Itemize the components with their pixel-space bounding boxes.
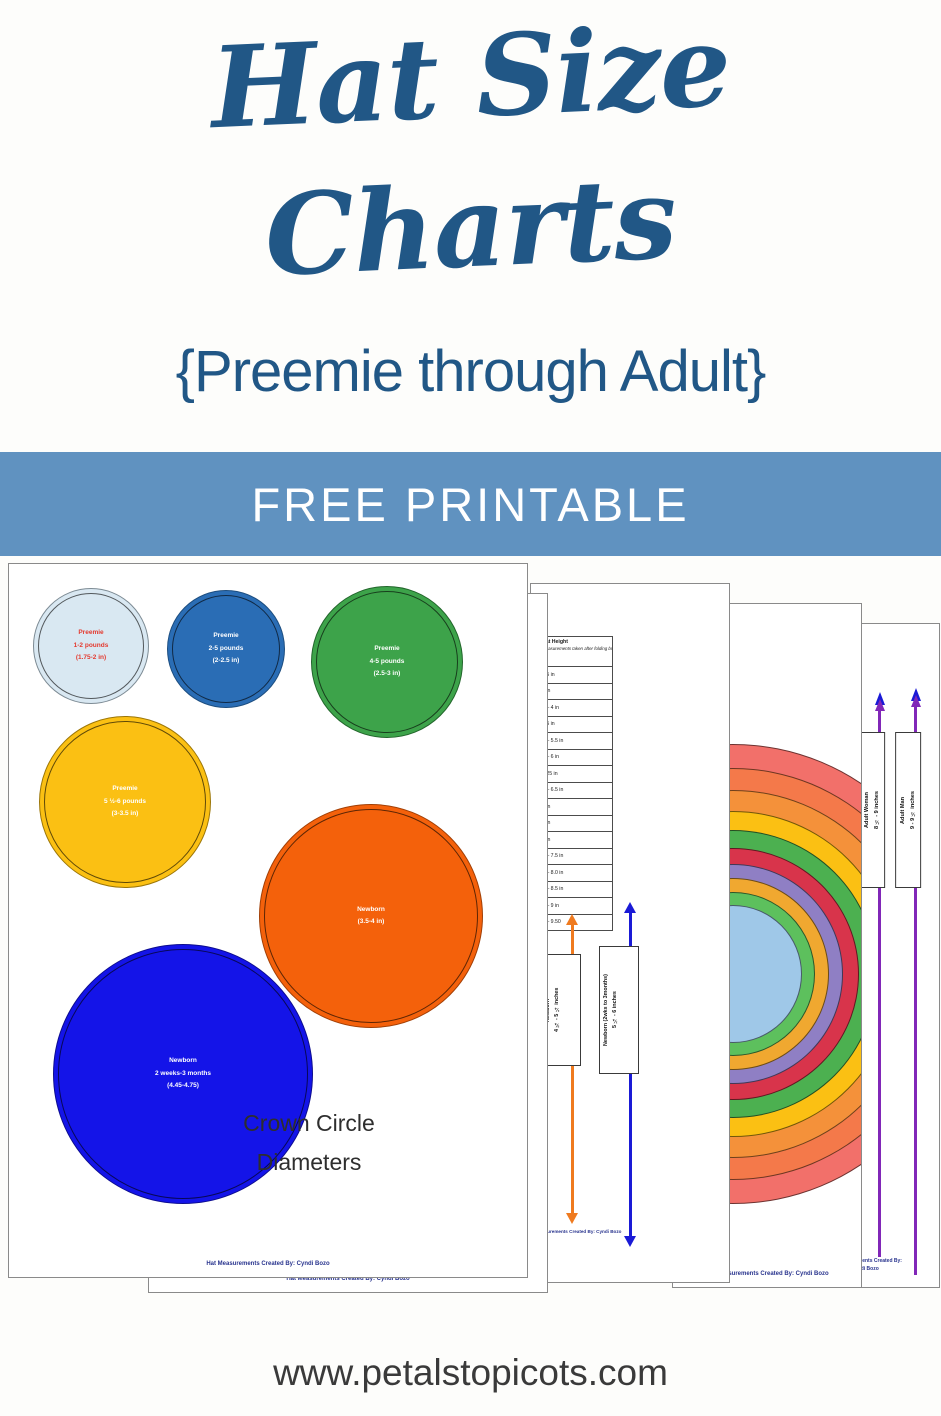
table-row: 6 – 8.0 in (540, 865, 612, 882)
circle-sub: 1-2 pounds (74, 640, 109, 652)
circle-sub: 5 ½-6 pounds (104, 796, 146, 808)
circle-sub: 4-5 pounds (370, 656, 405, 668)
table-row: 6 in (540, 832, 612, 849)
circle-label: Preemie (78, 627, 103, 639)
circle-label: Preemie (213, 630, 238, 642)
circle-label: Newborn (169, 1055, 197, 1067)
table-row: 6 – 7.5 in (540, 849, 612, 866)
caption-line-2: Diameters (209, 1143, 409, 1182)
table-row: 6 – 6.5 in (540, 783, 612, 800)
circle-label: Preemie (374, 643, 399, 655)
circle-size: (3.5-4 in) (358, 916, 385, 928)
circle-size: (2-2.5 in) (213, 655, 240, 667)
table-header: Hat Height measurements taken after fold… (540, 637, 612, 667)
banner-label: FREE PRINTABLE (251, 477, 689, 532)
table-row: 6 – 9 in (540, 898, 612, 915)
label-adult-man: Adult Man9 - 9 ½ inches (895, 732, 921, 888)
circle-size: (3-3.5 in) (112, 808, 139, 820)
crown-circle-preemie-2-5lb: Preemie 2-5 pounds (2-2.5 in) (167, 590, 285, 708)
page-title-line-2: Charts (0, 152, 941, 305)
site-url: www.petalstopicots.com (0, 1352, 941, 1394)
page-subtitle: {Preemie through Adult} (0, 338, 941, 405)
circle-size: (4.45-4.75) (167, 1080, 199, 1092)
table-row: 4 in (540, 684, 612, 701)
table-row: 5 – 5.5 in (540, 733, 612, 750)
table-row: 6.25 in (540, 766, 612, 783)
page-credit-crown-circles: Hat Measurements Created By: Cyndi Bozo (9, 1261, 527, 1267)
label-newborn-blue: Newborn (2wks to 3months)5 ¼ - 6 inches (599, 946, 639, 1074)
crown-circle-newborn: Newborn (3.5-4 in) (259, 804, 483, 1028)
arrow-head-down-icon (566, 1213, 578, 1224)
printable-pages-stack: Child7 ½ - 8 inches Teen8 - 8 ½ inches A… (0, 563, 941, 1323)
table-row: 7 – 8.5 in (540, 882, 612, 899)
crown-circle-caption: Crown Circle Diameters (209, 1104, 409, 1182)
free-printable-banner: FREE PRINTABLE (0, 452, 941, 556)
table-header-note: measurements taken after folding brim (542, 646, 610, 652)
caption-line-1: Crown Circle (209, 1104, 409, 1143)
printable-page-hat-heights: Hat Height measurements taken after fold… (530, 583, 730, 1283)
table-row: 4 – 4 in (540, 700, 612, 717)
table-row: 4.5 in (540, 717, 612, 734)
printable-page-crown-circles: Preemie 1-2 pounds (1.75-2 in) Preemie 2… (8, 563, 528, 1278)
crown-circle-preemie-1-2lb: Preemie 1-2 pounds (1.75-2 in) (33, 588, 149, 704)
page-title-line-1: Hat Size (0, 2, 941, 155)
circle-sub: 2-5 pounds (209, 643, 244, 655)
table-row: 3.5 in (540, 667, 612, 684)
table-row: 5 – 6 in (540, 750, 612, 767)
circle-size: (2.5-3 in) (374, 668, 401, 680)
circle-label: Preemie (112, 783, 137, 795)
arrow-head-down-icon (624, 1236, 636, 1247)
circle-sub: 2 weeks-3 months (155, 1068, 211, 1080)
circle-label: Newborn (357, 904, 385, 916)
label-adult-woman: Adult Woman8 ½ - 9 inches (859, 732, 885, 888)
crown-circle-preemie-4-5lb: Preemie 4-5 pounds (2.5-3 in) (311, 586, 463, 738)
crown-circle-preemie-5h-6lb: Preemie 5 ½-6 pounds (3-3.5 in) (39, 716, 211, 888)
hat-height-table: Hat Height measurements taken after fold… (539, 636, 613, 931)
pinterest-pin: Hat Size Charts {Preemie through Adult} … (0, 0, 941, 1416)
table-row: 7 in (540, 799, 612, 816)
table-row: 6 in (540, 816, 612, 833)
circle-size: (1.75-2 in) (76, 652, 106, 664)
title-block: Hat Size Charts {Preemie through Adult} (0, 0, 941, 446)
